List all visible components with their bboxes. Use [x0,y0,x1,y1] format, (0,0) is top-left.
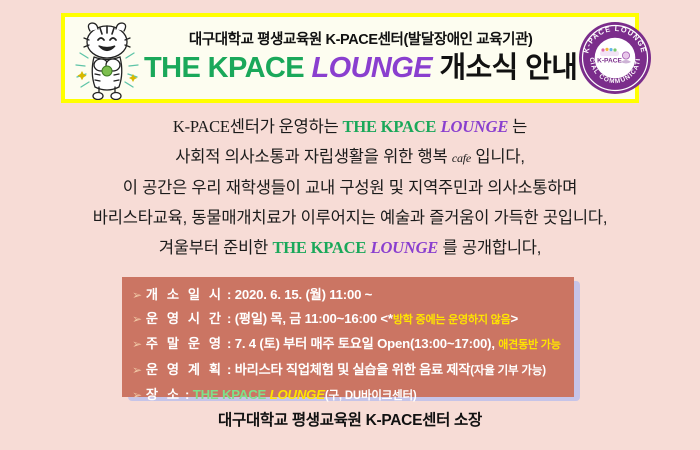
info-sep-2: : [224,336,235,351]
paragraph-line-2-post: 입니다, [471,148,525,166]
info-value-place-tail: (구, DU바이크센터) [325,390,417,402]
banner-text-block: 대구대학교 평생교육원 K-PACE센터(발달장애인 교육기관) THE KPA… [144,33,577,83]
paragraph-line-5: 겨울부터 준비한 THE KPACE LOUNGE 를 공개합니다, [0,233,700,263]
paragraph-line-2-cafe: cafe [452,151,471,165]
info-row-place: ➢장 소 : THE KPACE LOUNGE(구, DU바이크센터) [132,383,574,408]
info-note-hours: 방학 중에는 운영하지 않음 [393,314,511,326]
info-row-plan: ➢운 영 계 획 : 바리스타 직업체험 및 실습을 위한 음료 제작(자율 기… [132,358,574,383]
info-row-open-date: ➢개 소 일 시 : 2020. 6. 15. (월) 11:00 ~ [132,283,574,307]
info-box: ➢개 소 일 시 : 2020. 6. 15. (월) 11:00 ~ ➢운 영… [122,277,574,397]
info-label-plan: 운 영 계 획 [146,362,224,377]
info-label-weekend: 주 말 운 영 [146,336,224,351]
info-row-hours: ➢운 영 시 간 : (평일) 목, 금 11:00~16:00 <*방학 중에… [132,307,574,332]
paragraph-line-1-pre: K-PACE센터가 운영하는 [173,117,343,136]
info-sep-1: : [224,311,235,326]
banner-title-black: 개소식 안내 [439,52,577,84]
info-note-weekend: 애견동반 가능 [498,339,560,351]
tiger-mascot-icon [68,16,146,100]
paragraph-line-2-pre: 사회적 의사소통과 자립생활을 위한 행복 [175,148,452,166]
svg-text:K-PACE: K-PACE [597,58,622,65]
banner-subtitle: 대구대학교 평생교육원 K-PACE센터(발달장애인 교육기관) [189,33,533,49]
paragraph-line-1-purple: LOUNGE [441,117,509,136]
paragraph-line-1-post: 는 [508,117,527,136]
bullet-arrow-icon: ➢ [132,288,142,302]
info-label-place: 장 소 [146,387,182,402]
paragraph-line-5-purple: LOUNGE [371,238,439,257]
bullet-arrow-icon: ➢ [132,312,142,326]
paragraph-line-1-green: THE KPACE [343,117,437,136]
paragraph-line-2: 사회적 의사소통과 자립생활을 위한 행복 cafe 입니다, [0,142,700,173]
bullet-arrow-icon: ➢ [132,363,142,377]
info-value-place-yellow: LOUNGE [270,387,325,402]
paragraph-line-3: 이 공간은 우리 재학생들이 교내 구성원 및 지역주민과 의사소통하며 [0,173,700,203]
banner-title: THE KPACE LOUNGE 개소식 안내 [144,53,577,83]
info-label-hours: 운 영 시 간 [146,311,224,326]
paragraph-line-1: K-PACE센터가 운영하는 THE KPACE LOUNGE 는 [0,112,700,142]
info-value-hours-tail: > [511,311,519,326]
info-value-weekend: 7. 4 (토) 부터 매주 토요일 Open(13:00~17:00), [235,336,499,351]
info-value-hours: (평일) 목, 금 11:00~16:00 <* [235,311,393,326]
footer-signature: 대구대학교 평생교육원 K-PACE센터 소장 [0,408,700,430]
info-row-weekend: ➢주 말 운 영 : 7. 4 (토) 부터 매주 토요일 Open(13:00… [132,332,574,357]
paragraph-line-5-post: 를 공개합니다, [438,239,541,257]
k-pace-lounge-seal-icon: · K-PACE LOUNGE · SOCIAL COMMUNICATION K… [577,20,653,96]
header-banner: 대구대학교 평생교육원 K-PACE센터(발달장애인 교육기관) THE KPA… [61,13,639,103]
info-value-plan: 바리스타 직업체험 및 실습을 위한 음료 제작 [235,362,471,377]
info-sep-3: : [224,362,235,377]
banner-title-purple: LOUNGE [312,52,432,84]
info-sep-4: : [182,387,193,402]
info-note-plan: (자율 기부 가능) [470,365,546,377]
info-label-open-date: 개 소 일 시 [146,287,224,302]
bullet-arrow-icon: ➢ [132,337,142,351]
bullet-arrow-icon: ➢ [132,388,142,402]
info-value-open-date: 2020. 6. 15. (월) 11:00 ~ [235,287,372,302]
intro-paragraph: K-PACE센터가 운영하는 THE KPACE LOUNGE 는 사회적 의사… [0,112,700,263]
paragraph-line-5-pre: 겨울부터 준비한 [159,239,273,257]
paragraph-line-5-green: THE KPACE [272,238,366,257]
info-sep-0: : [224,287,235,302]
info-value-place-green: THE KPACE [193,387,270,402]
banner-title-green: THE KPACE [144,52,304,84]
paragraph-line-4: 바리스타교육, 동물매개치료가 이루어지는 예술과 즐거움이 가득한 곳입니다, [0,203,700,233]
